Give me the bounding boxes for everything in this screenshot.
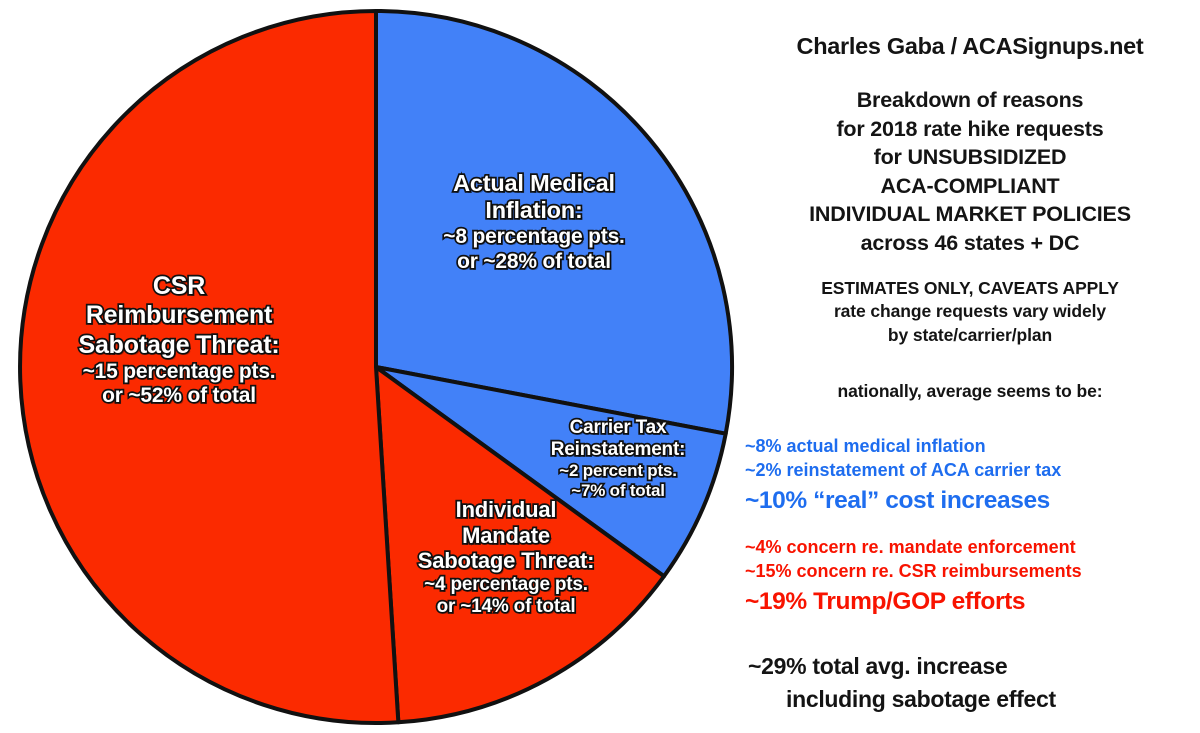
pie-slice-label-csr: CSR Reimbursement Sabotage Threat: ~15 p… bbox=[14, 272, 344, 409]
pie-slice-label-carrier-tax: Carrier Tax Reinstatement: ~2 percent pt… bbox=[520, 417, 716, 501]
label-line: Individual bbox=[381, 497, 631, 523]
headline-line: Breakdown of reasons bbox=[740, 86, 1200, 115]
label-line: or ~28% of total bbox=[398, 250, 670, 275]
breakdown-line: ~15% concern re. CSR reimbursements bbox=[745, 560, 1200, 584]
breakdown-total: ~10% “real” cost increases bbox=[745, 483, 1200, 519]
page-title: Breakdown of reasons for 2018 rate hike … bbox=[740, 86, 1200, 258]
label-line: ~15 percentage pts. bbox=[14, 360, 344, 385]
label-line: Actual Medical bbox=[398, 170, 670, 197]
byline: Charles Gaba / ACASignups.net bbox=[740, 33, 1200, 60]
pie-slice-label-medical-inflation: Actual Medical Inflation: ~8 percentage … bbox=[398, 170, 670, 274]
label-line: Carrier Tax bbox=[520, 417, 716, 439]
label-line: Sabotage Threat: bbox=[14, 331, 344, 360]
headline-line: for 2018 rate hike requests bbox=[740, 115, 1200, 144]
grand-total-line: ~29% total avg. increase bbox=[748, 650, 1200, 683]
label-line: or ~14% of total bbox=[381, 596, 631, 618]
national-average-heading: nationally, average seems to be: bbox=[740, 381, 1200, 402]
pie-slice-label-individual-mandate: Individual Mandate Sabotage Threat: ~4 p… bbox=[381, 497, 631, 619]
headline-line: across 46 states + DC bbox=[740, 229, 1200, 258]
grand-total: ~29% total avg. increase including sabot… bbox=[740, 650, 1200, 715]
headline-line: ACA-COMPLIANT bbox=[740, 172, 1200, 201]
label-line: ~4 percentage pts. bbox=[381, 574, 631, 596]
infographic-canvas: CSR Reimbursement Sabotage Threat: ~15 p… bbox=[0, 0, 1200, 733]
annotation-panel: Charles Gaba / ACASignups.net Breakdown … bbox=[740, 0, 1200, 733]
label-line: CSR bbox=[14, 272, 344, 301]
caveat-line: by state/carrier/plan bbox=[740, 324, 1200, 347]
caveats-note: ESTIMATES ONLY, CAVEATS APPLY rate chang… bbox=[740, 277, 1200, 347]
label-line: ~2 percent pts. bbox=[520, 461, 716, 481]
grand-total-line: including sabotage effect bbox=[748, 683, 1200, 716]
label-line: Reimbursement bbox=[14, 301, 344, 330]
pie-chart: CSR Reimbursement Sabotage Threat: ~15 p… bbox=[0, 0, 740, 733]
label-line: Reinstatement: bbox=[520, 439, 716, 461]
label-line: Mandate bbox=[381, 523, 631, 549]
breakdown-line: ~8% actual medical inflation bbox=[745, 435, 1200, 459]
label-line: ~8 percentage pts. bbox=[398, 225, 670, 250]
caveat-line: rate change requests vary widely bbox=[740, 300, 1200, 323]
breakdown-line: ~4% concern re. mandate enforcement bbox=[745, 536, 1200, 560]
label-line: Inflation: bbox=[398, 197, 670, 224]
breakdown-total: ~19% Trump/GOP efforts bbox=[745, 584, 1200, 620]
headline-line: for UNSUBSIDIZED bbox=[740, 143, 1200, 172]
caveat-line: ESTIMATES ONLY, CAVEATS APPLY bbox=[740, 277, 1200, 300]
label-line: Sabotage Threat: bbox=[381, 548, 631, 574]
breakdown-line: ~2% reinstatement of ACA carrier tax bbox=[745, 459, 1200, 483]
sabotage-breakdown: ~4% concern re. mandate enforcement ~15%… bbox=[740, 536, 1200, 619]
headline-line: INDIVIDUAL MARKET POLICIES bbox=[740, 200, 1200, 229]
real-cost-breakdown: ~8% actual medical inflation ~2% reinsta… bbox=[740, 435, 1200, 518]
label-line: or ~52% of total bbox=[14, 384, 344, 409]
